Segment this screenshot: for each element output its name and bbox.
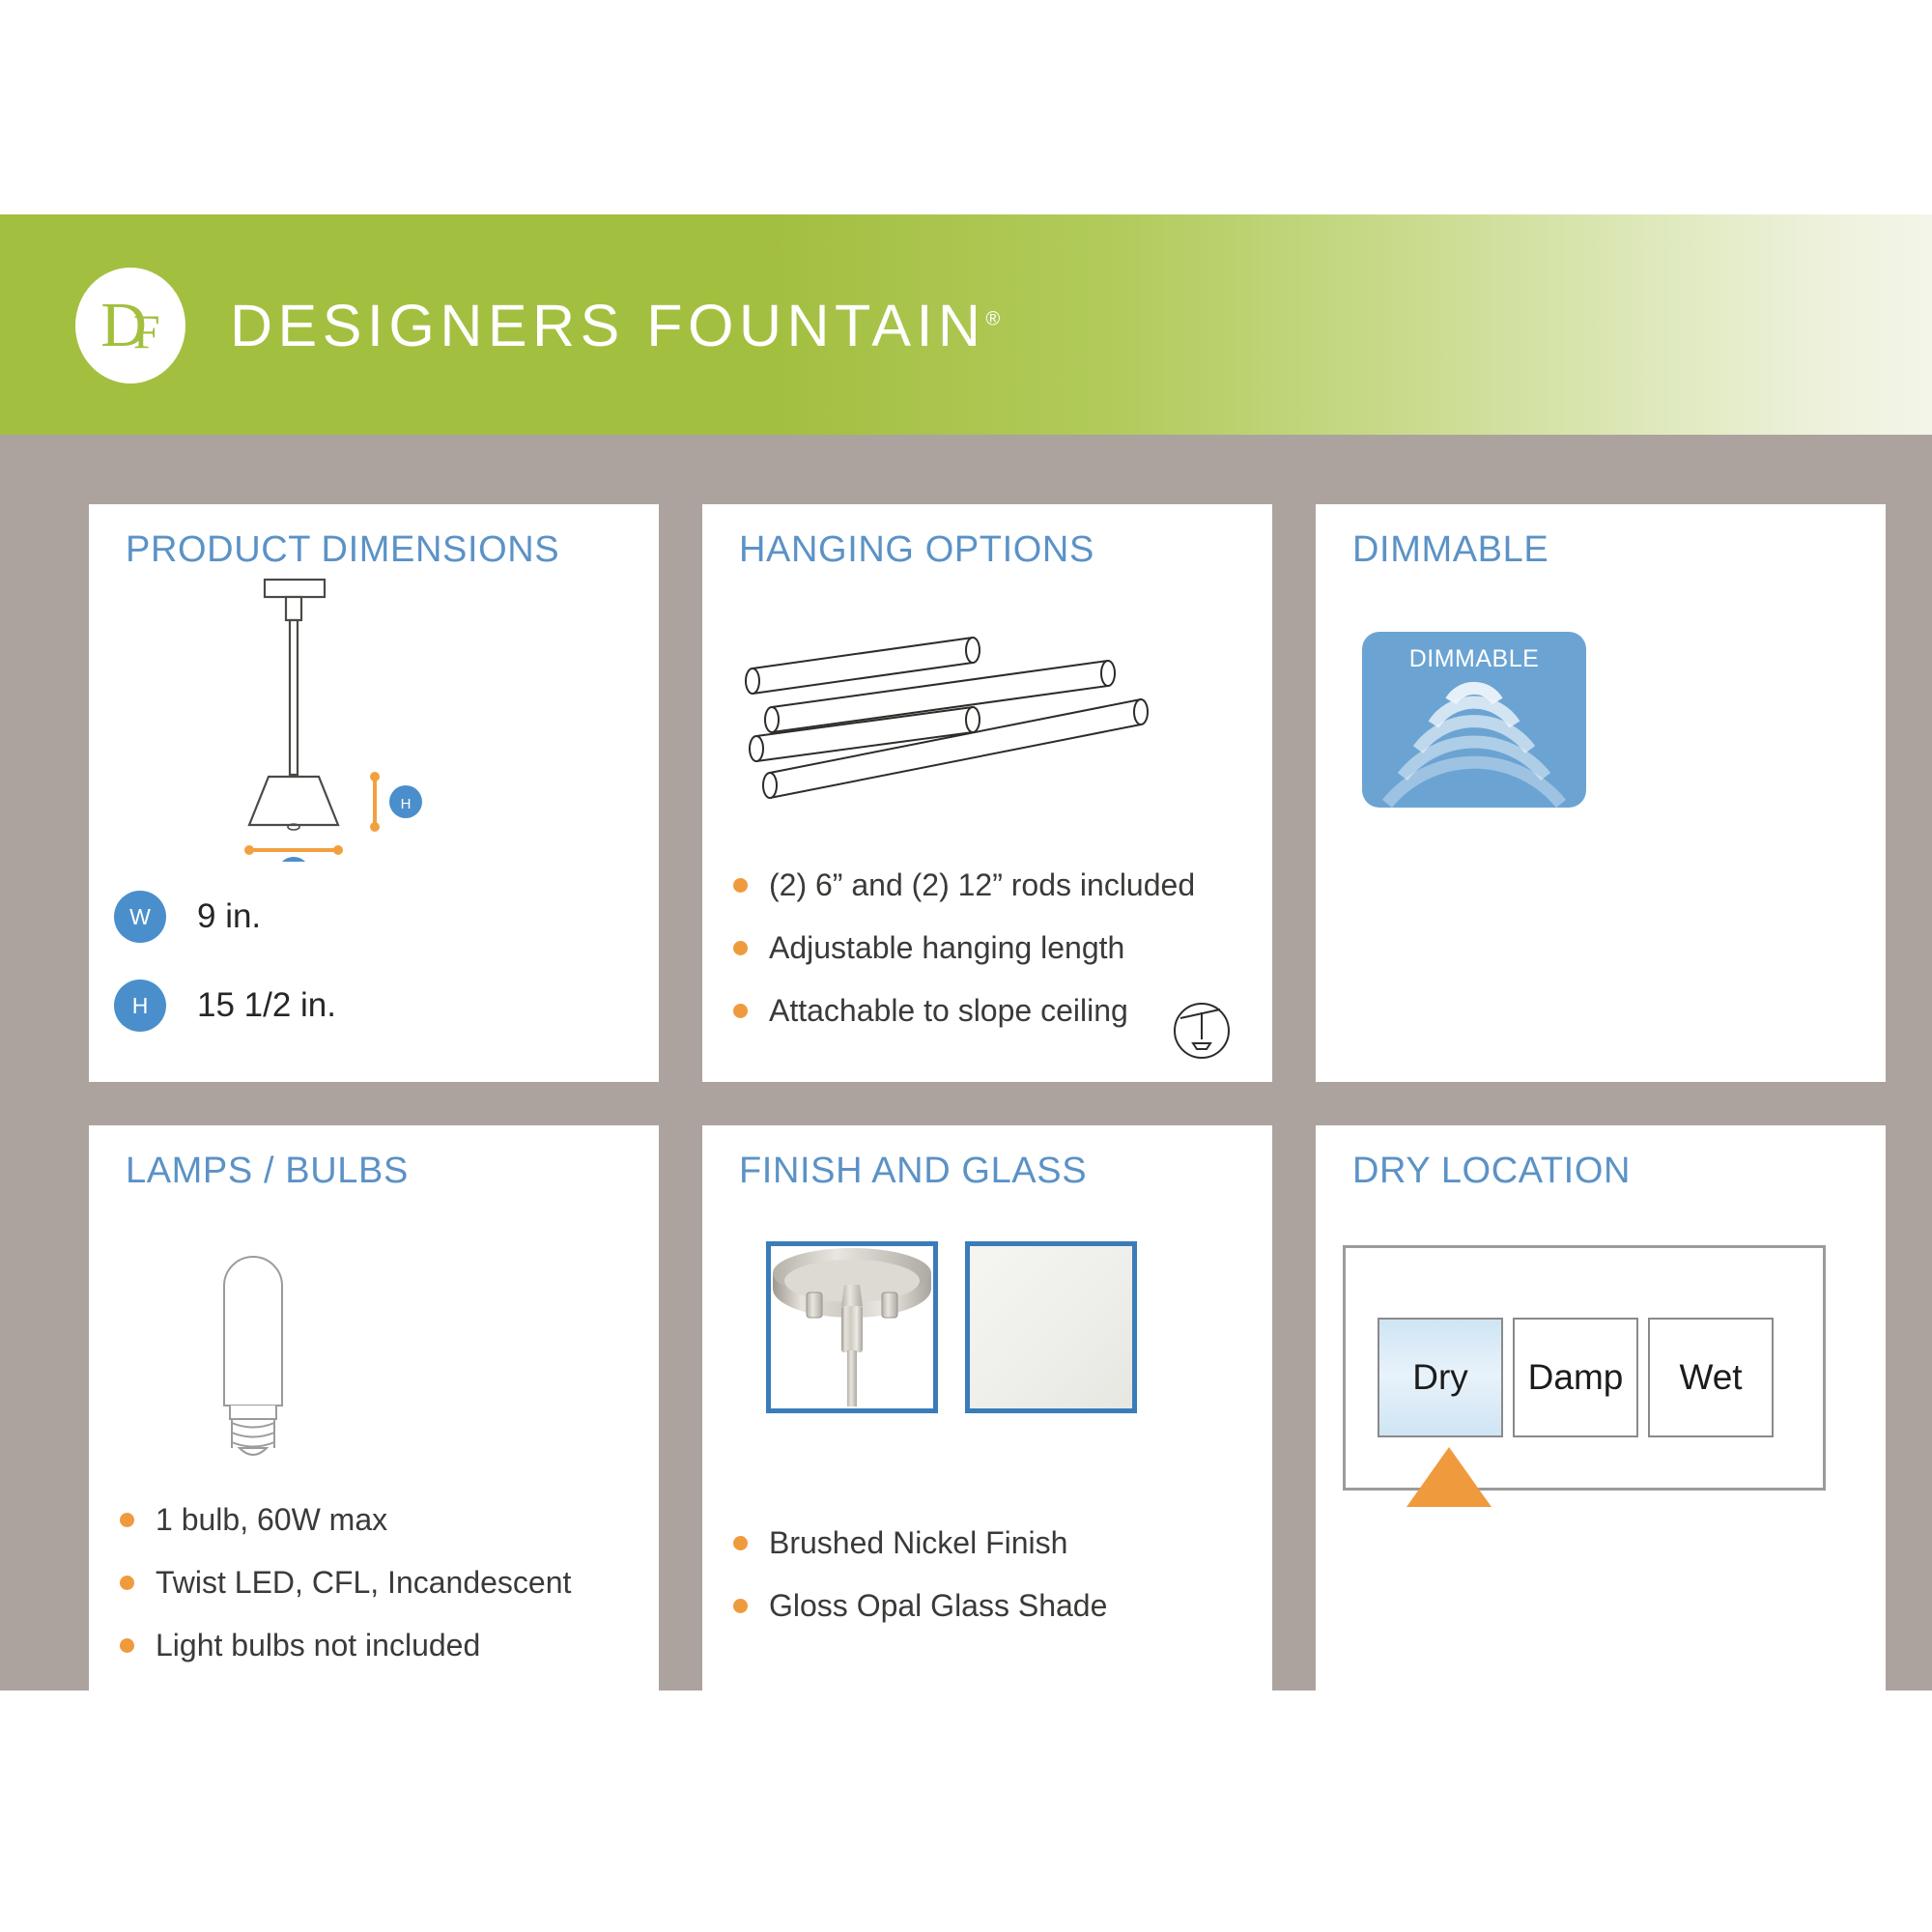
brand-logo: DF DESIGNERS FOUNTAIN® <box>75 268 1000 384</box>
bullet-text: Brushed Nickel Finish <box>769 1523 1067 1562</box>
bullet-dot-icon <box>733 1599 748 1613</box>
bullet-text: Twist LED, CFL, Incandescent <box>156 1563 571 1602</box>
brand-name-text: DESIGNERS FOUNTAIN <box>230 293 985 358</box>
monogram-letters: DF <box>100 294 159 357</box>
selected-location-pointer-icon <box>1406 1447 1492 1507</box>
dimension-row-width: W 9 in. <box>114 891 336 943</box>
dimmable-badge: DIMMABLE <box>1362 632 1586 808</box>
panel-dimmable: DIMMABLE DIMMABLE <box>1316 504 1886 1082</box>
list-item: Brushed Nickel Finish <box>733 1523 1107 1562</box>
panel-product-dimensions: PRODUCT DIMENSIONS H W <box>89 504 659 1082</box>
bullet-dot-icon <box>120 1576 134 1590</box>
hanging-options-bullets: (2) 6” and (2) 12” rods included Adjusta… <box>733 866 1195 1054</box>
bullet-text: Adjustable hanging length <box>769 928 1124 967</box>
swatch-brushed-nickel <box>766 1241 938 1413</box>
height-badge: H <box>114 980 166 1032</box>
height-value: 15 1/2 in. <box>197 986 336 1025</box>
list-item: 1 bulb, 60W max <box>120 1500 571 1539</box>
location-option-label: Damp <box>1528 1357 1624 1398</box>
width-badge-icon <box>277 857 310 862</box>
bullet-dot-icon <box>733 1004 748 1018</box>
lamps-bulbs-bullets: 1 bulb, 60W max Twist LED, CFL, Incandes… <box>120 1500 571 1689</box>
bullet-text: Attachable to slope ceiling <box>769 991 1128 1030</box>
width-value: 9 in. <box>197 897 261 936</box>
swatch-gloss-opal-glass <box>965 1241 1137 1413</box>
location-option-label: Dry <box>1412 1357 1468 1398</box>
brushed-nickel-canopy-image <box>771 1246 933 1408</box>
panel-title-product-dimensions: PRODUCT DIMENSIONS <box>126 529 559 571</box>
panel-title-dimmable: DIMMABLE <box>1352 529 1548 571</box>
bullet-text: Gloss Opal Glass Shade <box>769 1586 1107 1625</box>
panel-title-lamps-bulbs: LAMPS / BULBS <box>126 1151 409 1192</box>
registered-trademark-icon: ® <box>985 309 1000 330</box>
width-badge: W <box>114 891 166 943</box>
list-item: Gloss Opal Glass Shade <box>733 1586 1107 1625</box>
location-option-group: Dry Damp Wet <box>1378 1318 1774 1437</box>
spec-sheet: DF DESIGNERS FOUNTAIN® PRODUCT DIMENSION… <box>0 0 1932 1932</box>
list-item: Light bulbs not included <box>120 1626 571 1664</box>
dimension-legend: W 9 in. H 15 1/2 in. <box>114 891 336 1068</box>
location-rating-frame: Dry Damp Wet <box>1343 1245 1826 1491</box>
brand-name: DESIGNERS FOUNTAIN® <box>230 292 1000 359</box>
panel-hanging-options: HANGING OPTIONS (2) 6” and (2) 12” rods … <box>702 504 1272 1082</box>
bullet-dot-icon <box>120 1513 134 1527</box>
panel-dry-location: DRY LOCATION Dry Damp Wet <box>1316 1125 1886 1703</box>
bullet-text: (2) 6” and (2) 12” rods included <box>769 866 1195 904</box>
location-option-dry[interactable]: Dry <box>1378 1318 1503 1437</box>
bullet-dot-icon <box>733 1536 748 1550</box>
bullet-dot-icon <box>120 1638 134 1653</box>
bullet-dot-icon <box>733 878 748 893</box>
svg-text:H: H <box>401 796 412 812</box>
location-option-label: Wet <box>1679 1357 1742 1398</box>
panel-title-dry-location: DRY LOCATION <box>1352 1151 1631 1192</box>
pendant-dimension-drawing: H W <box>182 572 462 862</box>
hanging-rods-illustration <box>731 599 1234 802</box>
bullet-text: 1 bulb, 60W max <box>156 1500 387 1539</box>
bullet-text: Light bulbs not included <box>156 1626 480 1664</box>
location-option-damp[interactable]: Damp <box>1513 1318 1638 1437</box>
list-item: Adjustable hanging length <box>733 928 1195 967</box>
list-item: Attachable to slope ceiling <box>733 991 1195 1030</box>
designers-fountain-monogram-icon: DF <box>75 268 185 384</box>
panel-title-hanging-options: HANGING OPTIONS <box>739 529 1094 571</box>
list-item: Twist LED, CFL, Incandescent <box>120 1563 571 1602</box>
dimension-row-height: H 15 1/2 in. <box>114 980 336 1032</box>
slope-ceiling-icon <box>1172 1001 1232 1061</box>
dimmer-waves-icon <box>1362 632 1586 808</box>
tubular-bulb-icon <box>195 1226 311 1458</box>
finish-swatches <box>766 1241 1137 1413</box>
panel-lamps-bulbs: LAMPS / BULBS 1 bulb, 60W max Twist LED,… <box>89 1125 659 1703</box>
location-option-wet[interactable]: Wet <box>1648 1318 1774 1437</box>
panel-finish-and-glass: FINISH AND GLASS <box>702 1125 1272 1703</box>
finish-and-glass-bullets: Brushed Nickel Finish Gloss Opal Glass S… <box>733 1523 1107 1649</box>
bullet-dot-icon <box>733 941 748 955</box>
list-item: (2) 6” and (2) 12” rods included <box>733 866 1195 904</box>
panel-title-finish-and-glass: FINISH AND GLASS <box>739 1151 1087 1192</box>
